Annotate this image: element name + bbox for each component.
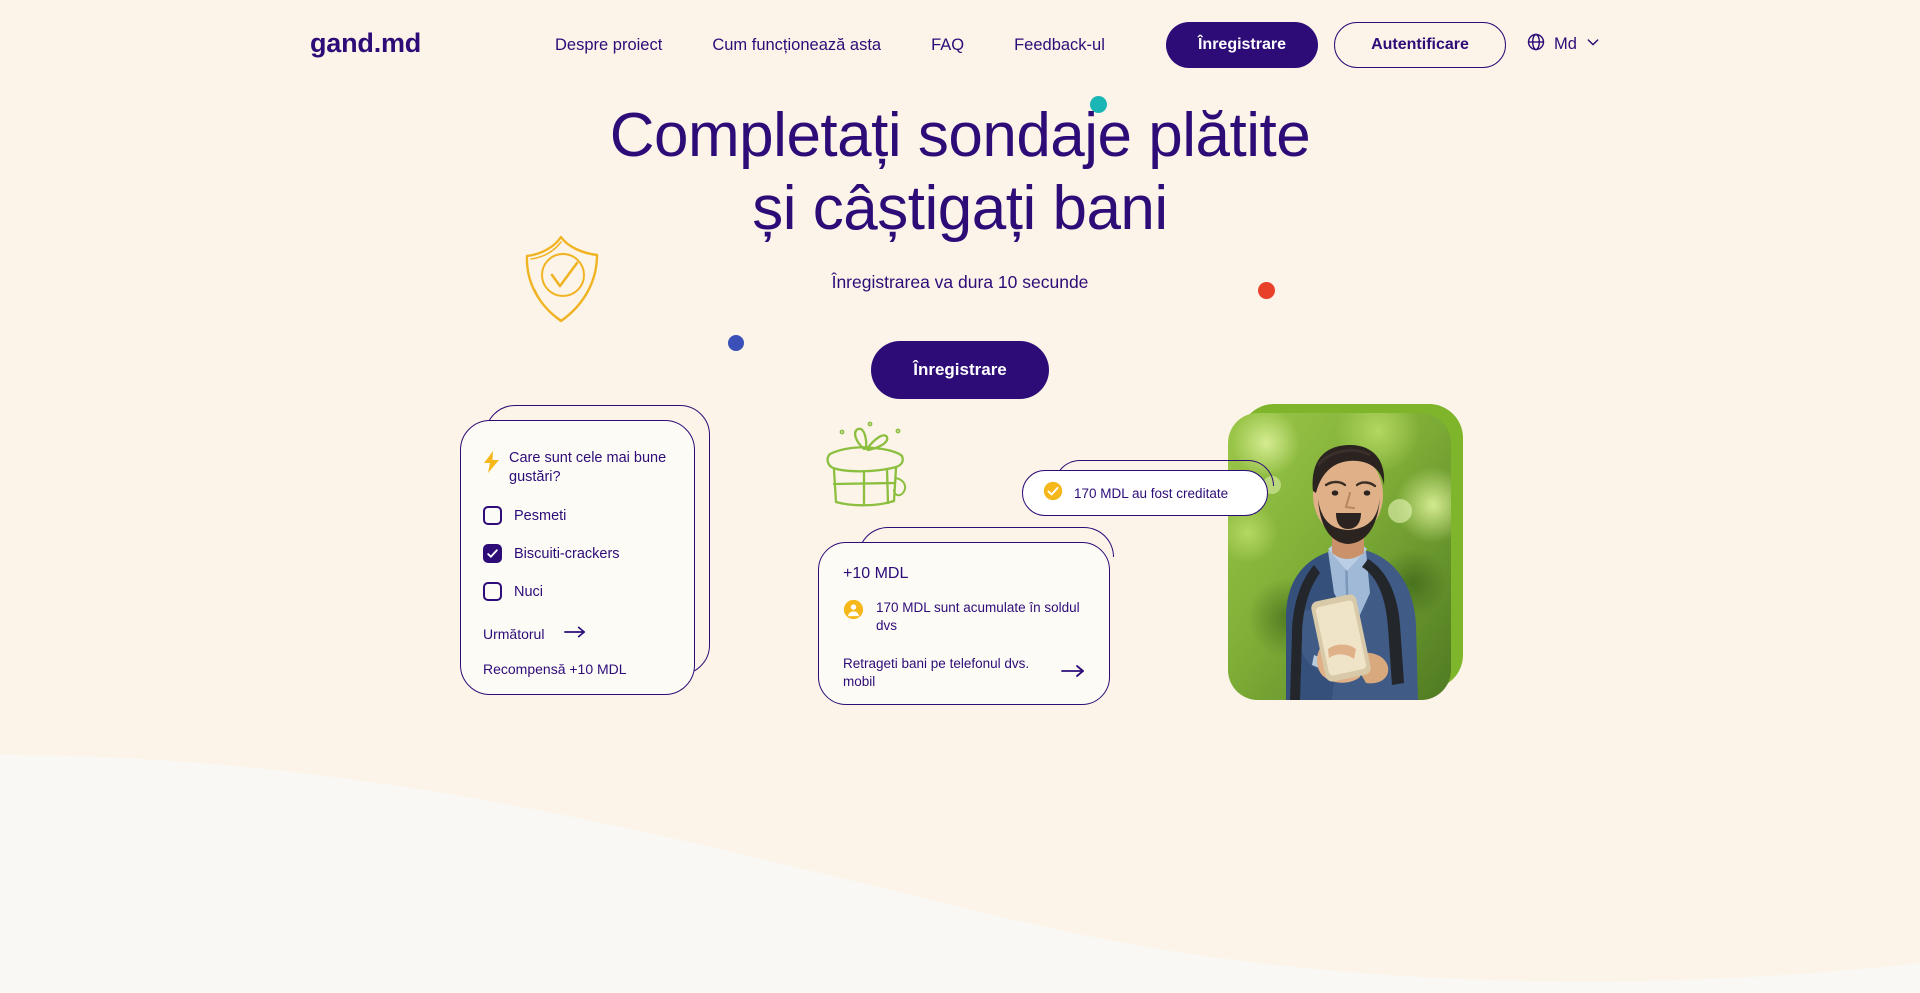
survey-option-label: Nuci: [514, 584, 543, 600]
site-header: gand.md Despre proiect Cum funcționează …: [0, 0, 1920, 90]
balance-card-body: +10 MDL 170 MDL sunt acumulate în soldul…: [818, 542, 1110, 705]
hero-photo: [1228, 404, 1463, 700]
page-title-line-2: și câștigați bani: [752, 174, 1167, 243]
credited-toast: 170 MDL au fost creditate: [1022, 460, 1274, 516]
credited-toast-text: 170 MDL au fost creditate: [1074, 486, 1228, 501]
survey-option-nuci[interactable]: Nuci: [483, 582, 672, 601]
survey-card-body: Care sunt cele mai bune gustări? Pesmeti…: [460, 420, 695, 695]
survey-next-button[interactable]: Următorul: [483, 625, 672, 642]
globe-icon: [1526, 32, 1546, 57]
balance-withdraw-button[interactable]: Retrageti bani pe telefonul dvs. mobil: [843, 655, 1085, 691]
header-register-button[interactable]: Înregistrare: [1166, 22, 1318, 68]
survey-card: Care sunt cele mai bune gustări? Pesmeti…: [460, 405, 710, 695]
header-login-button[interactable]: Autentificare: [1334, 22, 1506, 68]
balance-withdraw-text: Retrageti bani pe telefonul dvs. mobil: [843, 655, 1043, 691]
cookie-banner: Continuând să utilizați Website-ul nostr…: [0, 883, 1920, 993]
user-circle-icon: [843, 599, 864, 625]
survey-question-text: Care sunt cele mai bune gustări?: [509, 449, 672, 487]
survey-question-row: Care sunt cele mai bune gustări?: [483, 449, 672, 487]
man-with-phone-photo: [1228, 413, 1451, 700]
survey-reward-label: Recompensă +10 MDL: [483, 661, 672, 677]
nav-item-despre-proiect[interactable]: Despre proiect: [530, 36, 687, 55]
decor-dot-blue: [728, 335, 744, 351]
nav-item-faq[interactable]: FAQ: [906, 36, 989, 55]
balance-card: +10 MDL 170 MDL sunt acumulate în soldul…: [818, 527, 1114, 705]
balance-accrued-row: 170 MDL sunt acumulate în soldul dvs: [843, 599, 1085, 635]
balance-amount: +10 MDL: [843, 565, 1085, 583]
checkbox-pesmeti[interactable]: [483, 506, 502, 525]
hero-register-button[interactable]: Înregistrare: [871, 341, 1049, 399]
survey-option-pesmeti[interactable]: Pesmeti: [483, 506, 672, 525]
nav-item-feedback[interactable]: Feedback-ul: [989, 36, 1130, 55]
survey-next-label: Următorul: [483, 626, 544, 642]
balance-accrued-text: 170 MDL sunt acumulate în soldul dvs: [876, 599, 1085, 635]
survey-option-label: Biscuiti-crackers: [514, 546, 620, 562]
page-title: Completați sondaje plătite și câștigați …: [0, 100, 1920, 245]
language-label: Md: [1554, 35, 1577, 54]
nav-item-cum-functioneaza[interactable]: Cum funcționează asta: [687, 36, 906, 55]
gift-box-icon: [812, 418, 920, 514]
lightning-bolt-icon: [483, 451, 500, 478]
credited-toast-body: 170 MDL au fost creditate: [1022, 470, 1268, 516]
main-navigation: Despre proiect Cum funcționează asta FAQ…: [530, 36, 1130, 55]
arrow-right-icon: [1061, 664, 1085, 683]
arrow-right-icon: [564, 625, 586, 642]
check-circle-icon: [1043, 481, 1063, 506]
page-title-line-1: Completați sondaje plătite: [610, 101, 1310, 170]
chevron-down-icon: [1585, 34, 1601, 55]
survey-option-label: Pesmeti: [514, 508, 566, 524]
checkbox-biscuiti-crackers[interactable]: [483, 544, 502, 563]
page-subtitle: Înregistrarea va dura 10 secunde: [0, 272, 1920, 293]
language-selector[interactable]: Md: [1526, 32, 1601, 57]
checkbox-nuci[interactable]: [483, 582, 502, 601]
logo[interactable]: gand.md: [310, 28, 421, 59]
survey-option-biscuiti-crackers[interactable]: Biscuiti-crackers: [483, 544, 672, 563]
